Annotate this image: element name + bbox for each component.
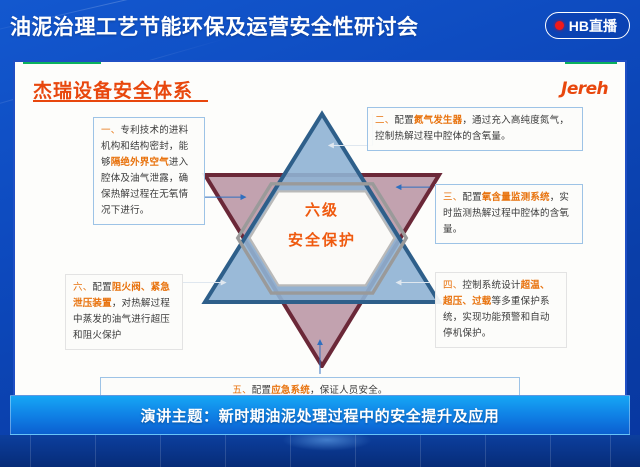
slide-area: 杰瑞设备安全体系 Jereh 六级 安全保护 (13, 60, 627, 415)
callout-box-3: 三、配置氧含量监测系统，实时监测热解过程中腔体的含氧量。 (435, 184, 583, 244)
callout-2-number: 二、 (375, 115, 394, 126)
callout-2-text-before: 配置 (394, 115, 413, 126)
jereh-logo: Jereh (561, 79, 608, 99)
live-badge-label: HB直播 (569, 16, 617, 36)
caption-text: 演讲主题：新时期油泥处理过程中的安全提升及应用 (141, 405, 500, 426)
slide-title-underline (33, 100, 208, 102)
header: 油泥治理工艺节能环保及运营安全性研讨会 (0, 0, 640, 52)
accent-bar-left (23, 61, 101, 64)
callout-6-text-before: 配置 (92, 282, 111, 293)
live-badge[interactable]: HB直播 (545, 12, 630, 39)
callout-4-number: 四、 (443, 280, 462, 291)
accent-bar-right (565, 61, 617, 64)
callout-box-2: 二、配置氮气发生器，通过充入高纯度氮气，控制热解过程中腔体的含氧量。 (367, 107, 583, 151)
stage-glow (282, 435, 372, 451)
page-title: 油泥治理工艺节能环保及运营安全性研讨会 (10, 11, 419, 41)
live-dot-icon (555, 21, 564, 30)
callout-2-highlight: 氮气发生器 (414, 115, 463, 126)
callout-box-4: 四、控制系统设计超温、超压、过载等多重保护系统，实现功能预警和自动停机保护。 (435, 272, 567, 348)
callout-1-highlight: 隔绝外界空气 (111, 157, 169, 168)
callout-3-text-before: 配置 (462, 192, 481, 203)
stage-floor (0, 435, 640, 467)
callout-4-text-before: 控制系统设计 (462, 280, 520, 291)
callout-box-1: 一、专利技术的进料机构和结构密封，能够隔绝外界空气进入腔体及油气泄露，确保热解过… (93, 117, 205, 225)
livestream-window: 油泥治理工艺节能环保及运营安全性研讨会 HB直播 杰瑞设备安全体系 Jereh … (0, 0, 640, 467)
caption-banner: 演讲主题：新时期油泥处理过程中的安全提升及应用 (10, 395, 630, 435)
center-hexagon-inner (249, 191, 394, 285)
callout-box-6: 六、配置阻火阀、紧急泄压装置，对热解过程中蒸发的油气进行超压和阻火保护 (65, 274, 183, 350)
callout-6-number: 六、 (73, 282, 92, 293)
slide-title: 杰瑞设备安全体系 (33, 76, 193, 103)
callout-3-highlight: 氧含量监测系统 (482, 192, 550, 203)
callout-3-number: 三、 (443, 192, 462, 203)
callout-1-number: 一、 (101, 125, 120, 136)
